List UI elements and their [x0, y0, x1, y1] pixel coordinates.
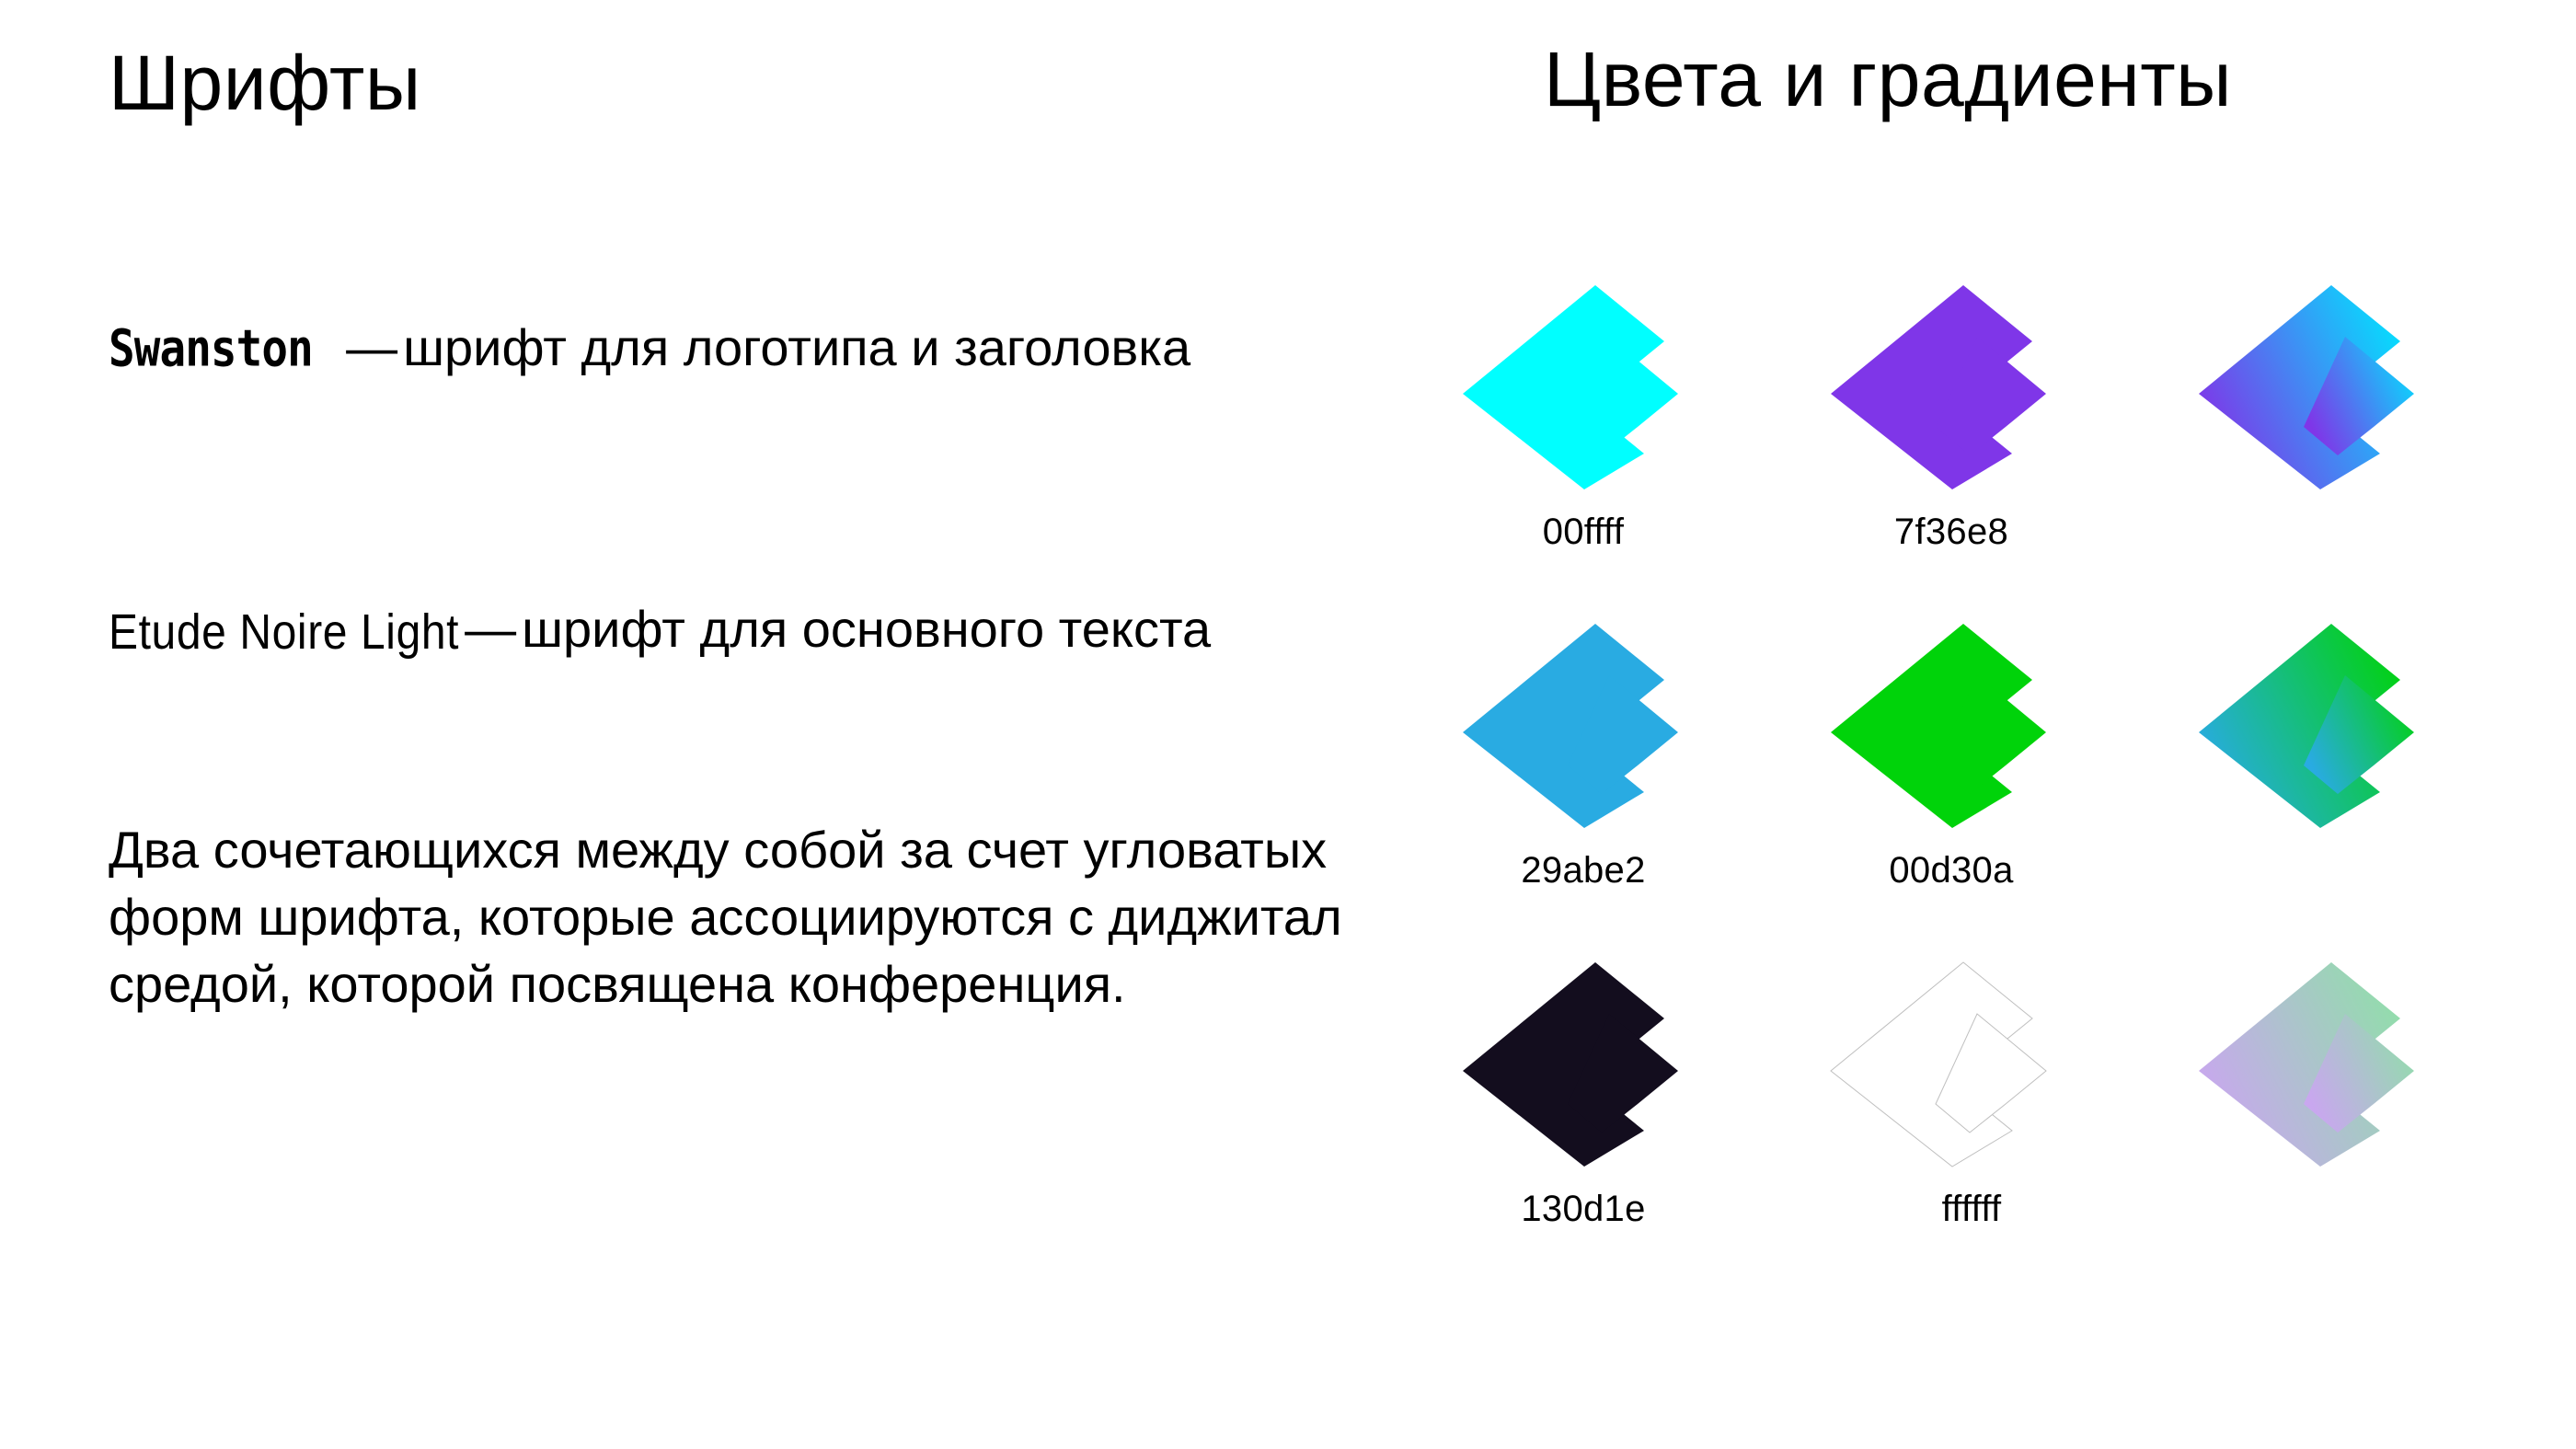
color-swatch[interactable]: ffffff: [1820, 953, 2188, 1292]
logo-mark-icon: [1827, 615, 2076, 832]
logo-mark-icon: [1827, 953, 2076, 1170]
color-hex-label: 29abe2: [1452, 852, 1715, 889]
color-swatch[interactable]: 130d1e: [1452, 953, 1820, 1292]
logo-font-description: шрифт для логотипа и заголовка: [403, 318, 1190, 376]
color-swatch[interactable]: [2188, 953, 2556, 1292]
color-hex-label: ffffff: [1840, 1190, 2103, 1227]
logo-mark-icon: [1827, 276, 2076, 493]
body-font-description: шрифт для основного текста: [522, 600, 1211, 658]
body-font-line: Etude Noire Light—шрифт для основного те…: [109, 596, 1378, 662]
logo-mark-icon: [2195, 276, 2444, 493]
color-swatch-grid: 00ffff7f36e829abe200d30a130d1effffff: [1452, 276, 2556, 1292]
colors-section: Цвета и градиенты 00ffff7f36e829abe200d3…: [1415, 0, 2576, 1449]
logo-font-line: Swanston—шрифт для логотипа и заголовка: [109, 315, 1378, 381]
colors-section-title: Цвета и градиенты: [1544, 40, 2232, 118]
color-swatch[interactable]: 29abe2: [1452, 615, 1820, 953]
color-swatch[interactable]: 00d30a: [1820, 615, 2188, 953]
logo-mark-icon: [1459, 953, 1708, 1170]
color-swatch[interactable]: [2188, 615, 2556, 953]
color-swatch[interactable]: 7f36e8: [1820, 276, 2188, 615]
fonts-rationale-paragraph: Два сочетающихся между собой за счет угл…: [109, 817, 1378, 1018]
logo-mark-icon: [1459, 615, 1708, 832]
logo-mark-icon: [2195, 953, 2444, 1170]
logo-mark-icon: [1459, 276, 1708, 493]
logo-font-name: Swanston: [109, 316, 313, 380]
color-hex-label: 7f36e8: [1820, 513, 2083, 550]
fonts-section: Шрифты Swanston—шрифт для логотипа и заг…: [109, 0, 1415, 1449]
color-swatch[interactable]: [2188, 276, 2556, 615]
color-hex-label: 00d30a: [1820, 852, 2083, 889]
body-font-dash: —: [459, 600, 522, 658]
color-swatch[interactable]: 00ffff: [1452, 276, 1820, 615]
color-hex-label: 130d1e: [1452, 1190, 1715, 1227]
body-font-name: Etude Noire Light: [109, 601, 459, 664]
logo-mark-icon: [2195, 615, 2444, 832]
color-hex-label: 00ffff: [1452, 513, 1715, 550]
logo-font-dash: —: [340, 318, 403, 376]
fonts-section-title: Шрифты: [109, 44, 421, 121]
